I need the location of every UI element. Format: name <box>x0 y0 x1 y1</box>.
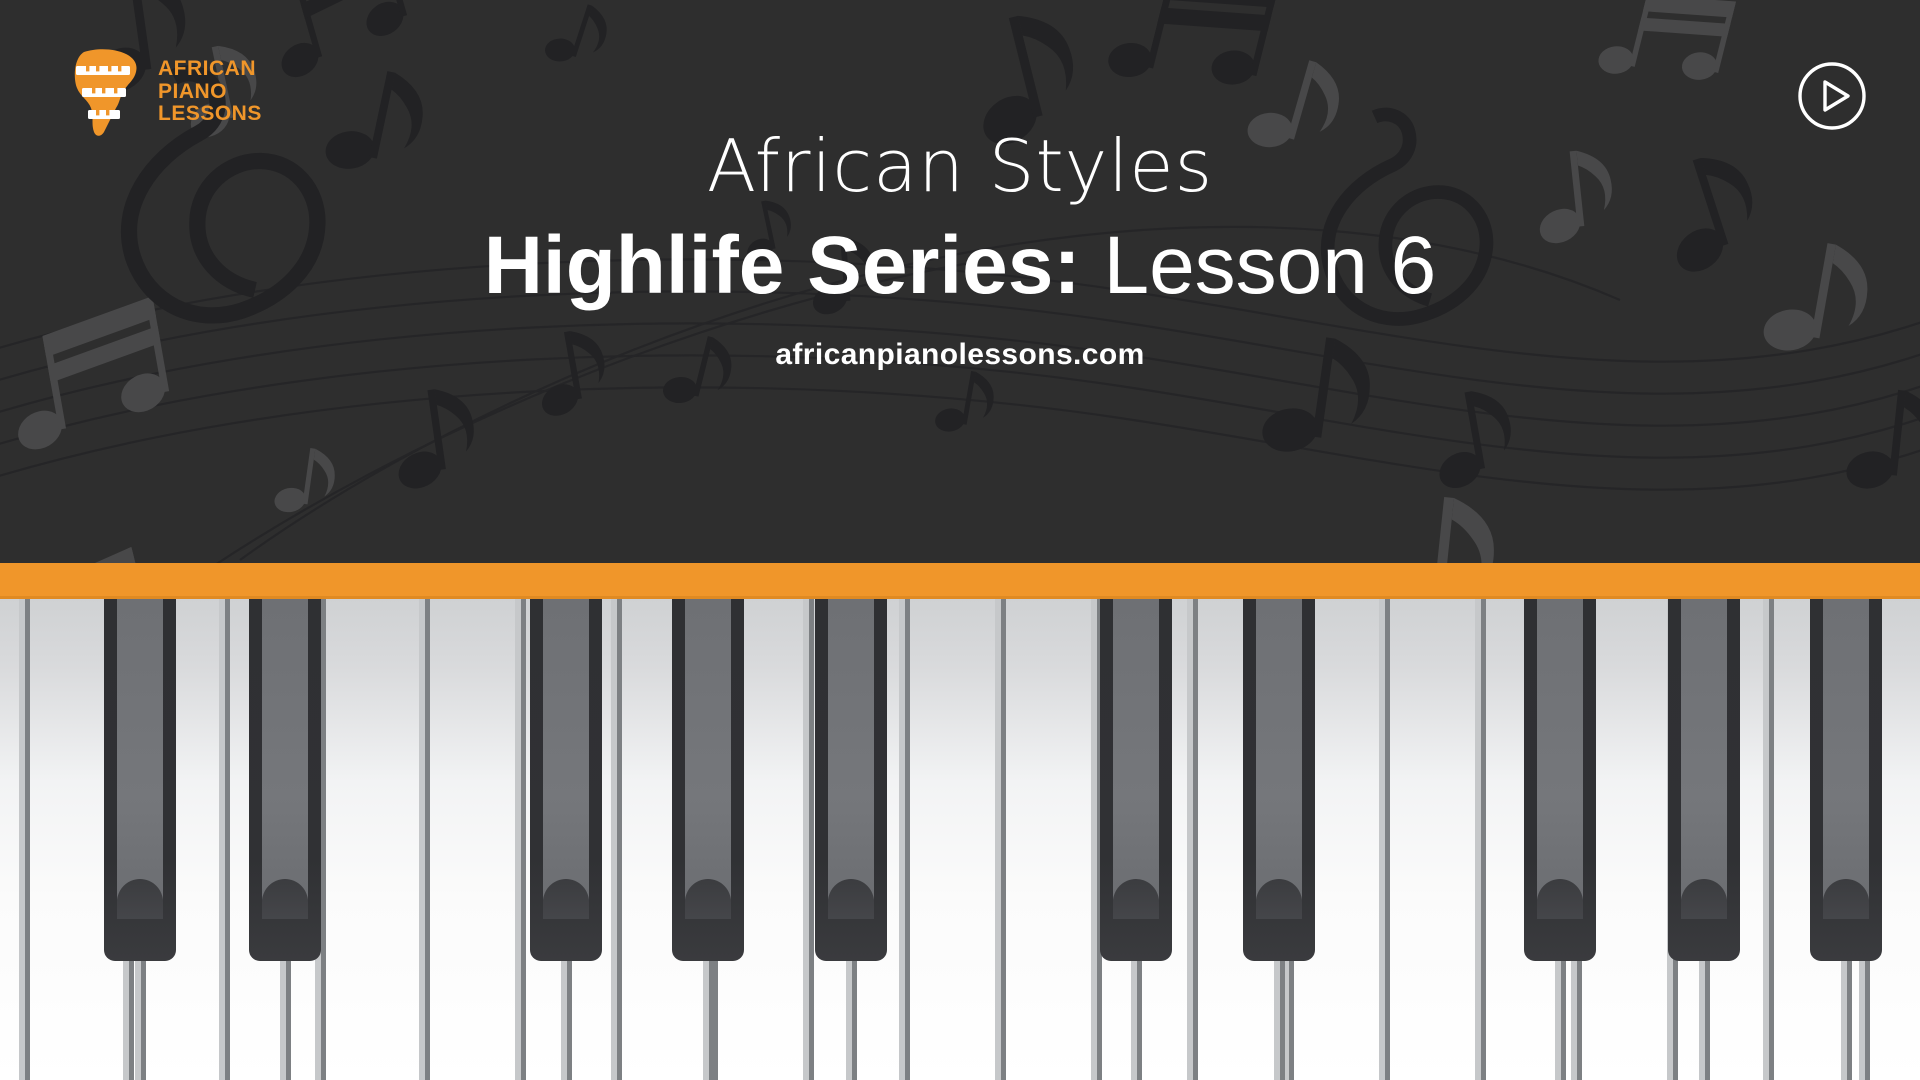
white-key-separator-stem <box>1131 961 1142 1080</box>
white-key-separator-stem <box>1699 961 1710 1080</box>
page-title: Highlife Series: Lesson 6 <box>0 224 1920 308</box>
black-key[interactable] <box>249 599 321 961</box>
black-key[interactable] <box>1243 599 1315 961</box>
white-key-separator <box>19 599 30 1080</box>
eyebrow-text: African Styles <box>0 130 1920 202</box>
white-key-separator-stem <box>561 961 572 1080</box>
white-key-separator <box>899 599 910 1080</box>
black-key[interactable] <box>1810 599 1882 961</box>
africa-piano-logo-icon <box>70 46 148 138</box>
black-key[interactable] <box>1100 599 1172 961</box>
orange-divider-bar <box>0 563 1920 599</box>
black-key[interactable] <box>815 599 887 961</box>
white-key-separator <box>803 599 814 1080</box>
white-key-separator <box>611 599 622 1080</box>
page-title-light: Lesson 6 <box>1103 220 1436 311</box>
title-block: African Styles Highlife Series: Lesson 6… <box>0 130 1920 372</box>
black-key[interactable] <box>1668 599 1740 961</box>
website-url: africanpianolessons.com <box>0 338 1920 372</box>
white-key-separator <box>995 599 1006 1080</box>
brand-line-3: LESSONS <box>158 103 262 126</box>
white-key-separator <box>419 599 430 1080</box>
white-key-separator-stem <box>1274 961 1285 1080</box>
piano-keyboard <box>0 599 1920 1080</box>
white-key-separator-stem <box>1555 961 1566 1080</box>
black-key[interactable] <box>672 599 744 961</box>
header-banner: AFRICAN PIANO LESSONS African Styles Hig… <box>0 0 1920 565</box>
white-key-separator <box>1763 599 1774 1080</box>
white-key-separator <box>1379 599 1390 1080</box>
black-key[interactable] <box>104 599 176 961</box>
white-key-separator <box>1187 599 1198 1080</box>
brand-line-1: AFRICAN <box>158 58 262 81</box>
brand-name: AFRICAN PIANO LESSONS <box>158 58 262 126</box>
white-key-separator-stem <box>135 961 146 1080</box>
black-key[interactable] <box>530 599 602 961</box>
white-key-separator-stem <box>280 961 291 1080</box>
white-key-separator <box>1475 599 1486 1080</box>
white-key-separator <box>515 599 526 1080</box>
page-title-bold: Highlife Series: <box>484 220 1081 311</box>
lesson-title-card: AFRICAN PIANO LESSONS African Styles Hig… <box>0 0 1920 1080</box>
white-key-separator-stem <box>846 961 857 1080</box>
brand-line-2: PIANO <box>158 81 262 104</box>
white-key-separator-stem <box>1841 961 1852 1080</box>
play-circle-icon[interactable] <box>1796 60 1868 132</box>
white-key-separator <box>219 599 230 1080</box>
black-key[interactable] <box>1524 599 1596 961</box>
white-key-separator-stem <box>703 961 714 1080</box>
brand-logo[interactable]: AFRICAN PIANO LESSONS <box>70 42 300 142</box>
